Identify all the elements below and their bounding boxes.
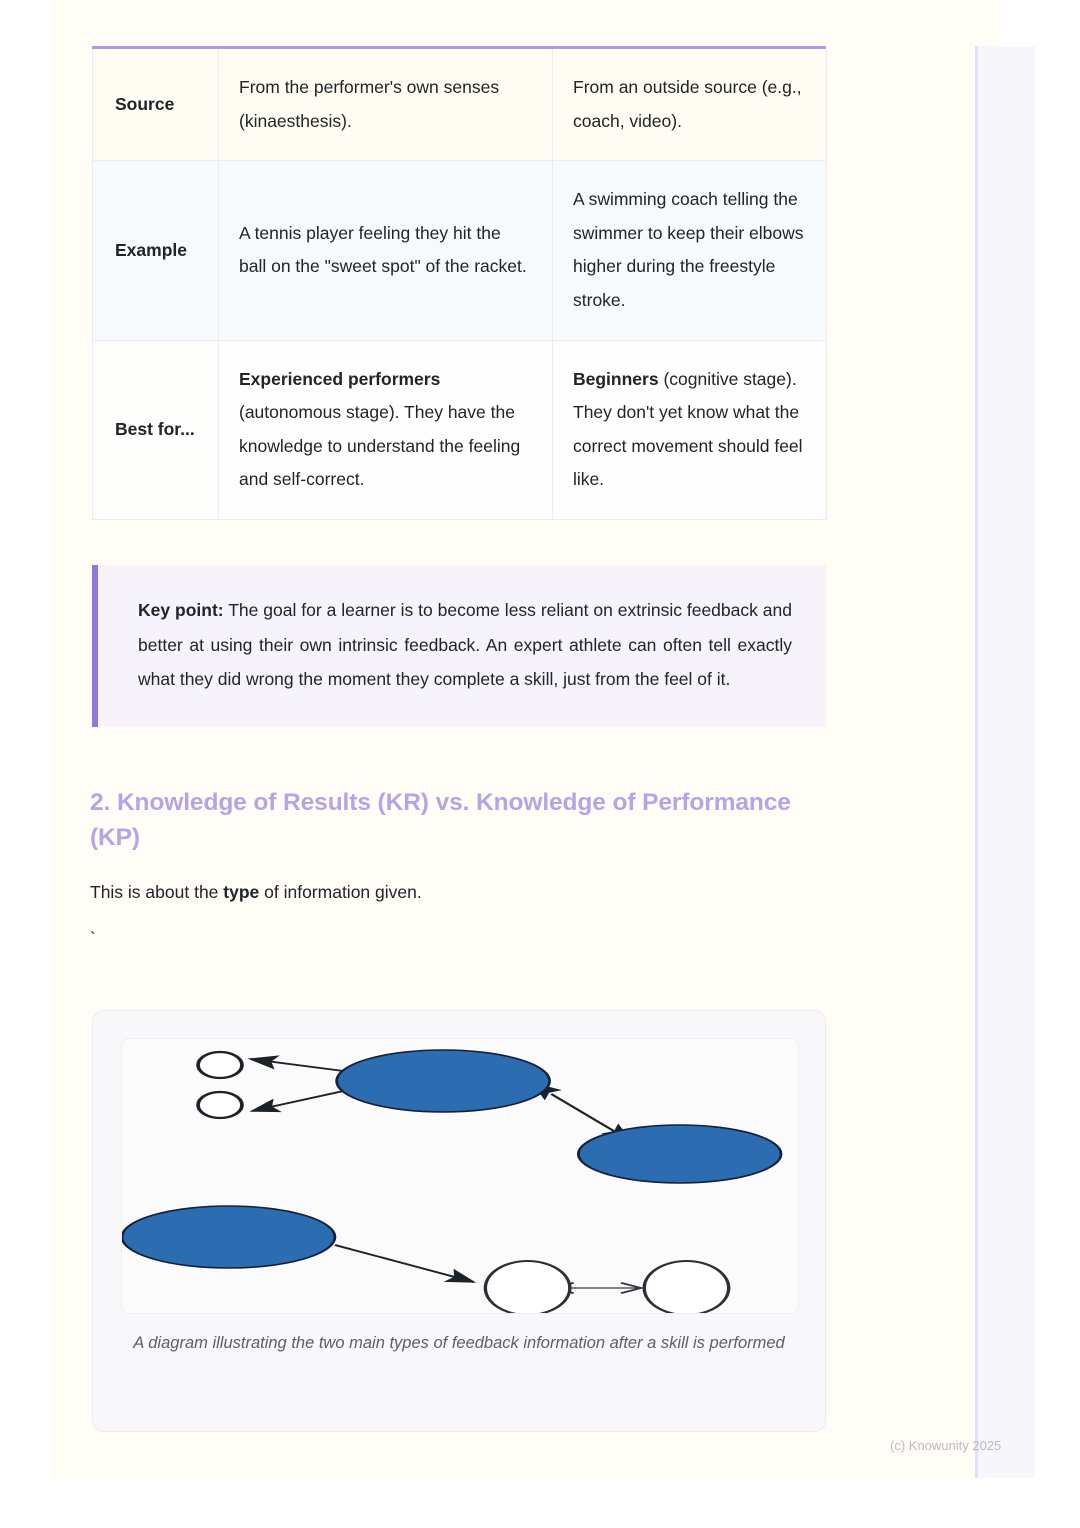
footer-credit: (c) Knowunity 2025 (890, 1438, 1001, 1453)
lead-emphasis: type (223, 882, 259, 902)
cell-bestfor-extrinsic: Beginners (cognitive stage). They don't … (553, 340, 827, 519)
cell-bestfor-intrinsic: Experienced performers (autonomous stage… (219, 340, 553, 519)
cell-example-extrinsic: A swimming coach telling the swimmer to … (553, 161, 827, 340)
cell-bestfor-intrinsic-emphasis: Experienced performers (239, 369, 440, 389)
table-row: Source From the performer's own senses (… (93, 49, 827, 161)
node-circle-bottom-mid (485, 1261, 569, 1313)
cell-source-extrinsic: From an outside source (e.g., coach, vid… (553, 49, 827, 161)
edge-topcenter-to-circle1 (250, 1059, 343, 1071)
node-ellipse-right (578, 1125, 781, 1183)
edge-leftlower-to-circlemid (335, 1245, 474, 1282)
feedback-diagram-svg (122, 1039, 798, 1313)
node-small-circle-2 (198, 1092, 242, 1118)
node-ellipse-left-lower (122, 1206, 335, 1268)
lead-suffix: of information given. (259, 882, 421, 902)
key-point-text: The goal for a learner is to become less… (138, 600, 792, 689)
cell-source-intrinsic: From the performer's own senses (kinaest… (219, 49, 553, 161)
stray-backtick: ` (90, 925, 96, 954)
key-point-label: Key point: (138, 600, 224, 620)
edge-topcenter-to-circle2 (252, 1091, 343, 1111)
document-content: Source From the performer's own senses (… (0, 0, 1080, 1528)
section-heading: 2. Knowledge of Results (KR) vs. Knowled… (90, 786, 832, 856)
table-row: Example A tennis player feeling they hit… (93, 161, 827, 340)
node-circle-bottom-right (644, 1261, 729, 1313)
cell-bestfor-intrinsic-rest: (autonomous stage). They have the knowle… (239, 402, 520, 489)
lead-prefix: This is about the (90, 882, 223, 902)
key-point-callout: Key point: The goal for a learner is to … (92, 565, 826, 727)
figure-caption: A diagram illustrating the two main type… (121, 1329, 797, 1357)
table-row: Best for... Experienced performers (auto… (93, 340, 827, 519)
cell-bestfor-extrinsic-emphasis: Beginners (573, 369, 659, 389)
row-label-example: Example (93, 161, 219, 340)
row-label-best-for: Best for... (93, 340, 219, 519)
diagram-image (121, 1038, 799, 1314)
row-label-source: Source (93, 49, 219, 161)
cell-example-intrinsic: A tennis player feeling they hit the bal… (219, 161, 553, 340)
section-lead-paragraph: This is about the type of information gi… (90, 878, 832, 908)
figure-card: A diagram illustrating the two main type… (92, 1010, 826, 1432)
node-small-circle-1 (198, 1052, 242, 1078)
comparison-table: Source From the performer's own senses (… (92, 46, 826, 520)
node-ellipse-top-center (337, 1050, 550, 1112)
